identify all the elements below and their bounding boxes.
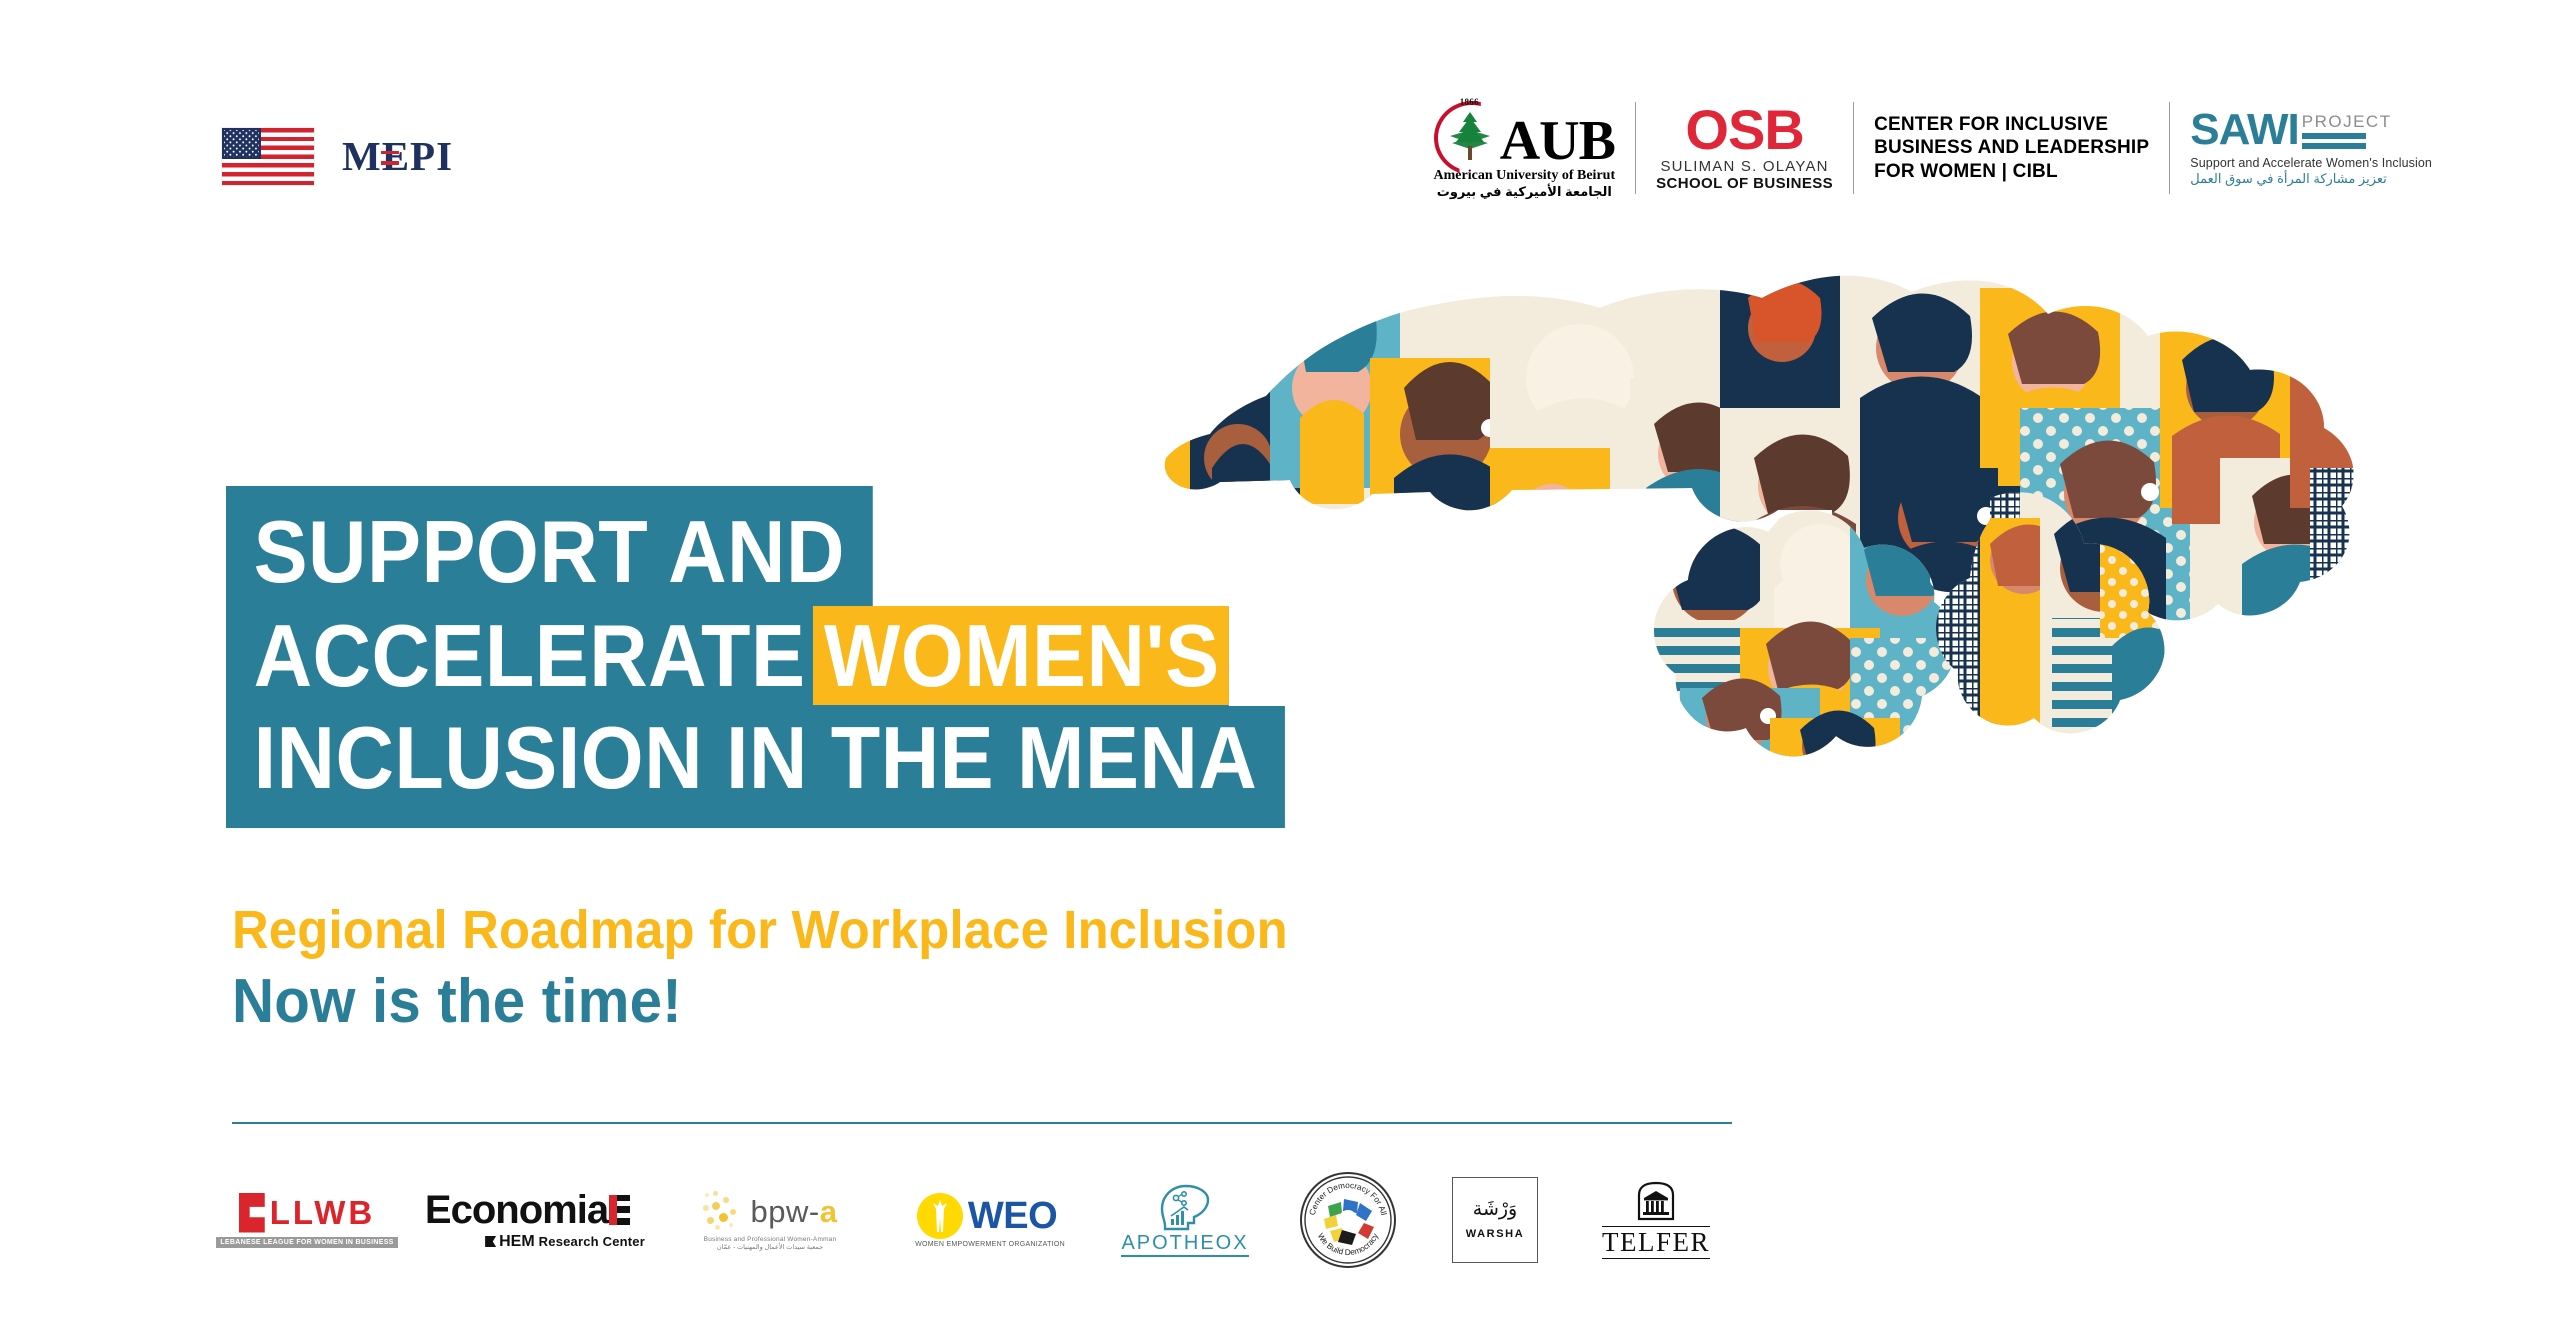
sawi-arabic-tagline: تعزيز مشاركة المرأة في سوق العمل [2190, 171, 2387, 187]
bpwa-tagline: Business and Professional Women-Amman [704, 1236, 837, 1243]
partner-logo-apotheox: APOTHEOX [1125, 1165, 1245, 1275]
us-flag-icon [222, 128, 314, 185]
partner-logo-bpw-a: bpw-a Business and Professional Women-Am… [685, 1165, 855, 1275]
aub-acronym: AUB [1500, 117, 1615, 166]
cibl-line2: BUSINESS AND LEADERSHIP [1874, 136, 2149, 159]
llwb-mark-icon [239, 1193, 265, 1233]
osb-logo: OSB SULIMAN S. OLAYAN SCHOOL OF BUSINESS [1656, 104, 1833, 192]
aub-seal: 1866 [1434, 97, 1506, 167]
horizontal-divider [232, 1122, 1732, 1124]
mepi-wordmark: MEPI [342, 136, 453, 177]
headline-line-1: SUPPORT AND [254, 502, 845, 601]
logo-divider [2169, 102, 2170, 194]
partner-logo-weo: WEO WOMEN EMPOWERMENT ORGANIZATION [907, 1165, 1067, 1275]
partner-logo-warsha: وَرْشَة WARSHA [1445, 1165, 1545, 1275]
subtitle-line-2: Now is the time! [232, 968, 1288, 1036]
osb-acronym: OSB [1685, 104, 1803, 156]
headline-line-2-plain: ACCELERATE [254, 606, 806, 705]
cibl-line3: FOR WOMEN | CIBL [1874, 160, 2149, 183]
apotheox-wordmark: APOTHEOX [1121, 1233, 1248, 1257]
cibl-line1: CENTER FOR INCLUSIVE [1874, 113, 2149, 136]
sawi-acronym: SAWI [2190, 110, 2298, 150]
warsha-arabic-name: وَرْشَة [1473, 1200, 1517, 1219]
aub-logo: 1866 AUB American University of Beirut ا… [1434, 97, 1616, 200]
logo-divider [1635, 102, 1636, 194]
subtitle-line-1: Regional Roadmap for Workplace Inclusion [232, 900, 1288, 960]
partner-logo-row: LLWB LEBANESE LEAGUE FOR WOMEN IN BUSINE… [232, 1160, 1742, 1280]
head-profile-icon [1156, 1183, 1214, 1231]
osb-line2: SCHOOL OF BUSINESS [1656, 175, 1833, 192]
sawi-bars-icon [2302, 133, 2392, 153]
sawi-project-word: PROJECT [2302, 113, 2392, 130]
llwb-tagline: LEBANESE LEAGUE FOR WOMEN IN BUSINESS [216, 1237, 397, 1248]
aub-founded-year: 1866 [1460, 97, 1479, 107]
economia-name: Economia [425, 1190, 608, 1230]
partner-logo-economia: Economia HEM Research Center [410, 1165, 645, 1275]
aub-arabic-name: الجامعة الأميركية في بيروت [1437, 184, 1612, 200]
economia-flag-icon [485, 1236, 496, 1247]
partner-logo-llwb: LLWB LEBANESE LEAGUE FOR WOMEN IN BUSINE… [232, 1165, 382, 1275]
llwb-acronym: LLWB [270, 1196, 375, 1229]
cedar-tree-icon [1448, 110, 1492, 162]
classical-building-icon [1635, 1181, 1677, 1221]
institution-logo-bar: 1866 AUB American University of Beirut ا… [1434, 92, 2432, 204]
weo-sunburst-icon [917, 1193, 963, 1239]
osb-line1: SULIMAN S. OLAYAN [1660, 158, 1828, 175]
warsha-name: WARSHA [1466, 1228, 1525, 1240]
bpwa-arabic-tagline: جمعية سيدات الأعمال والمهنيات - عمّان [717, 1243, 823, 1251]
sawi-logo: SAWI PROJECT Support and Accelerate Wome… [2190, 110, 2432, 187]
logo-divider [1853, 102, 1854, 194]
partner-logo-telfer: TELFER [1601, 1165, 1711, 1275]
headline-line-3: INCLUSION IN THE MENA [254, 708, 1258, 807]
partner-logo-center-democracy-for-all: Center Democracy For All We Build Democr… [1293, 1165, 1403, 1275]
economia-a-mark-icon [609, 1195, 630, 1225]
bpwa-wordmark: bpw-a [751, 1196, 838, 1227]
weo-acronym: WEO [968, 1197, 1057, 1235]
cdfa-seal-icon: Center Democracy For All We Build Democr… [1300, 1172, 1396, 1268]
subtitle-group: Regional Roadmap for Workplace Inclusion… [232, 900, 1355, 1037]
sawi-tagline: Support and Accelerate Women's Inclusion [2190, 156, 2432, 170]
cibl-logo: CENTER FOR INCLUSIVE BUSINESS AND LEADER… [1874, 113, 2149, 183]
economia-hem: HEM [499, 1233, 535, 1251]
mepi-wordmark-text: MEPI [342, 133, 453, 179]
telfer-wordmark: TELFER [1602, 1226, 1710, 1258]
mepi-logo: MEPI [222, 128, 453, 185]
bpwa-dots-icon [703, 1189, 747, 1233]
poster-canvas: MEPI 1866 [0, 0, 2560, 1340]
economia-research-center: Research Center [539, 1234, 645, 1249]
headline: SUPPORT AND ACCELERATEWOMEN'S INCLUSION … [226, 486, 1377, 828]
headline-line-2-highlight: WOMEN'S [813, 606, 1229, 705]
